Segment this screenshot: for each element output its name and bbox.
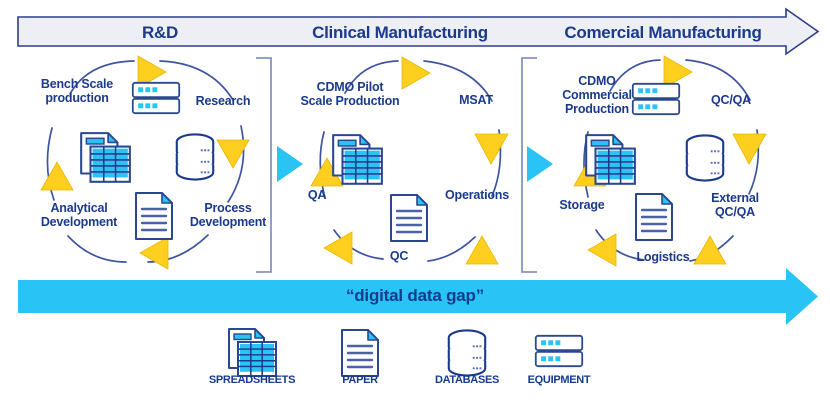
cl-triangle-bottom-left <box>324 232 352 264</box>
node-label-qc-qa: QC/QA <box>701 93 761 107</box>
node-label-research: Research <box>182 94 264 108</box>
database-icon <box>687 135 723 180</box>
bracket-clinical-left <box>256 58 271 272</box>
legend-graphics <box>229 329 582 376</box>
rd-arc-bottom-left <box>68 236 126 262</box>
paper-icon <box>391 195 427 241</box>
transition-arrow-rd-to-clinical <box>277 146 303 182</box>
node-label-process-development: Process Development <box>176 201 280 229</box>
legend-label-spreadsheets: SPREADSHEETS <box>192 374 312 386</box>
cm-triangle-right <box>733 134 766 164</box>
spreadsheets-icon <box>333 135 382 184</box>
phase-label-clinical: Clinical Manufacturing <box>280 23 520 43</box>
node-label-analytical-development: Analytical Development <box>24 201 134 229</box>
node-label-operations: Operations <box>433 188 521 202</box>
spreadsheets-icon <box>81 133 130 182</box>
paper-icon <box>636 194 672 240</box>
spreadsheets-icon <box>229 329 276 376</box>
node-label-cdmo-commercial-production: CDMO Commercial Production <box>550 74 644 116</box>
paper-icon <box>342 330 378 376</box>
node-label-qa: QA <box>297 188 337 202</box>
phase-label-commercial: Comercial Manufacturing <box>538 23 788 43</box>
database-icon <box>177 134 213 179</box>
node-label-msat: MSAT <box>441 93 511 107</box>
legend-label-paper: PAPER <box>320 374 400 386</box>
node-label-qc: QC <box>379 249 419 263</box>
node-label-logistics: Logistics <box>623 250 703 264</box>
equipment-icon <box>536 336 582 366</box>
spreadsheets-icon <box>586 135 635 184</box>
legend-label-databases: DATABASES <box>415 374 519 386</box>
paper-icon <box>136 193 172 239</box>
rd-triangle-left <box>41 162 73 190</box>
node-label-bench-scale-production: Bench Scale production <box>22 77 132 105</box>
database-icon <box>449 330 485 375</box>
rd-triangle-bottom <box>140 237 168 269</box>
legend-label-equipment: EQUIPMENT <box>507 374 611 386</box>
equipment-icon <box>133 83 179 113</box>
cl-arc-bottom-right <box>428 237 475 261</box>
digital-data-gap-label: “digital data gap” <box>0 286 830 306</box>
diagram-canvas: R&D Clinical Manufacturing Comercial Man… <box>0 0 830 400</box>
cl-triangle-right <box>475 134 508 164</box>
transition-arrow-clinical-to-commercial <box>527 146 553 182</box>
node-label-cdmo-pilot-scale-production: CDMO Pilot Scale Production <box>288 80 412 108</box>
node-label-storage: Storage <box>546 198 618 212</box>
phase-label-rd: R&D <box>80 23 240 43</box>
node-label-external-qc-qa: External QC/QA <box>695 191 775 219</box>
